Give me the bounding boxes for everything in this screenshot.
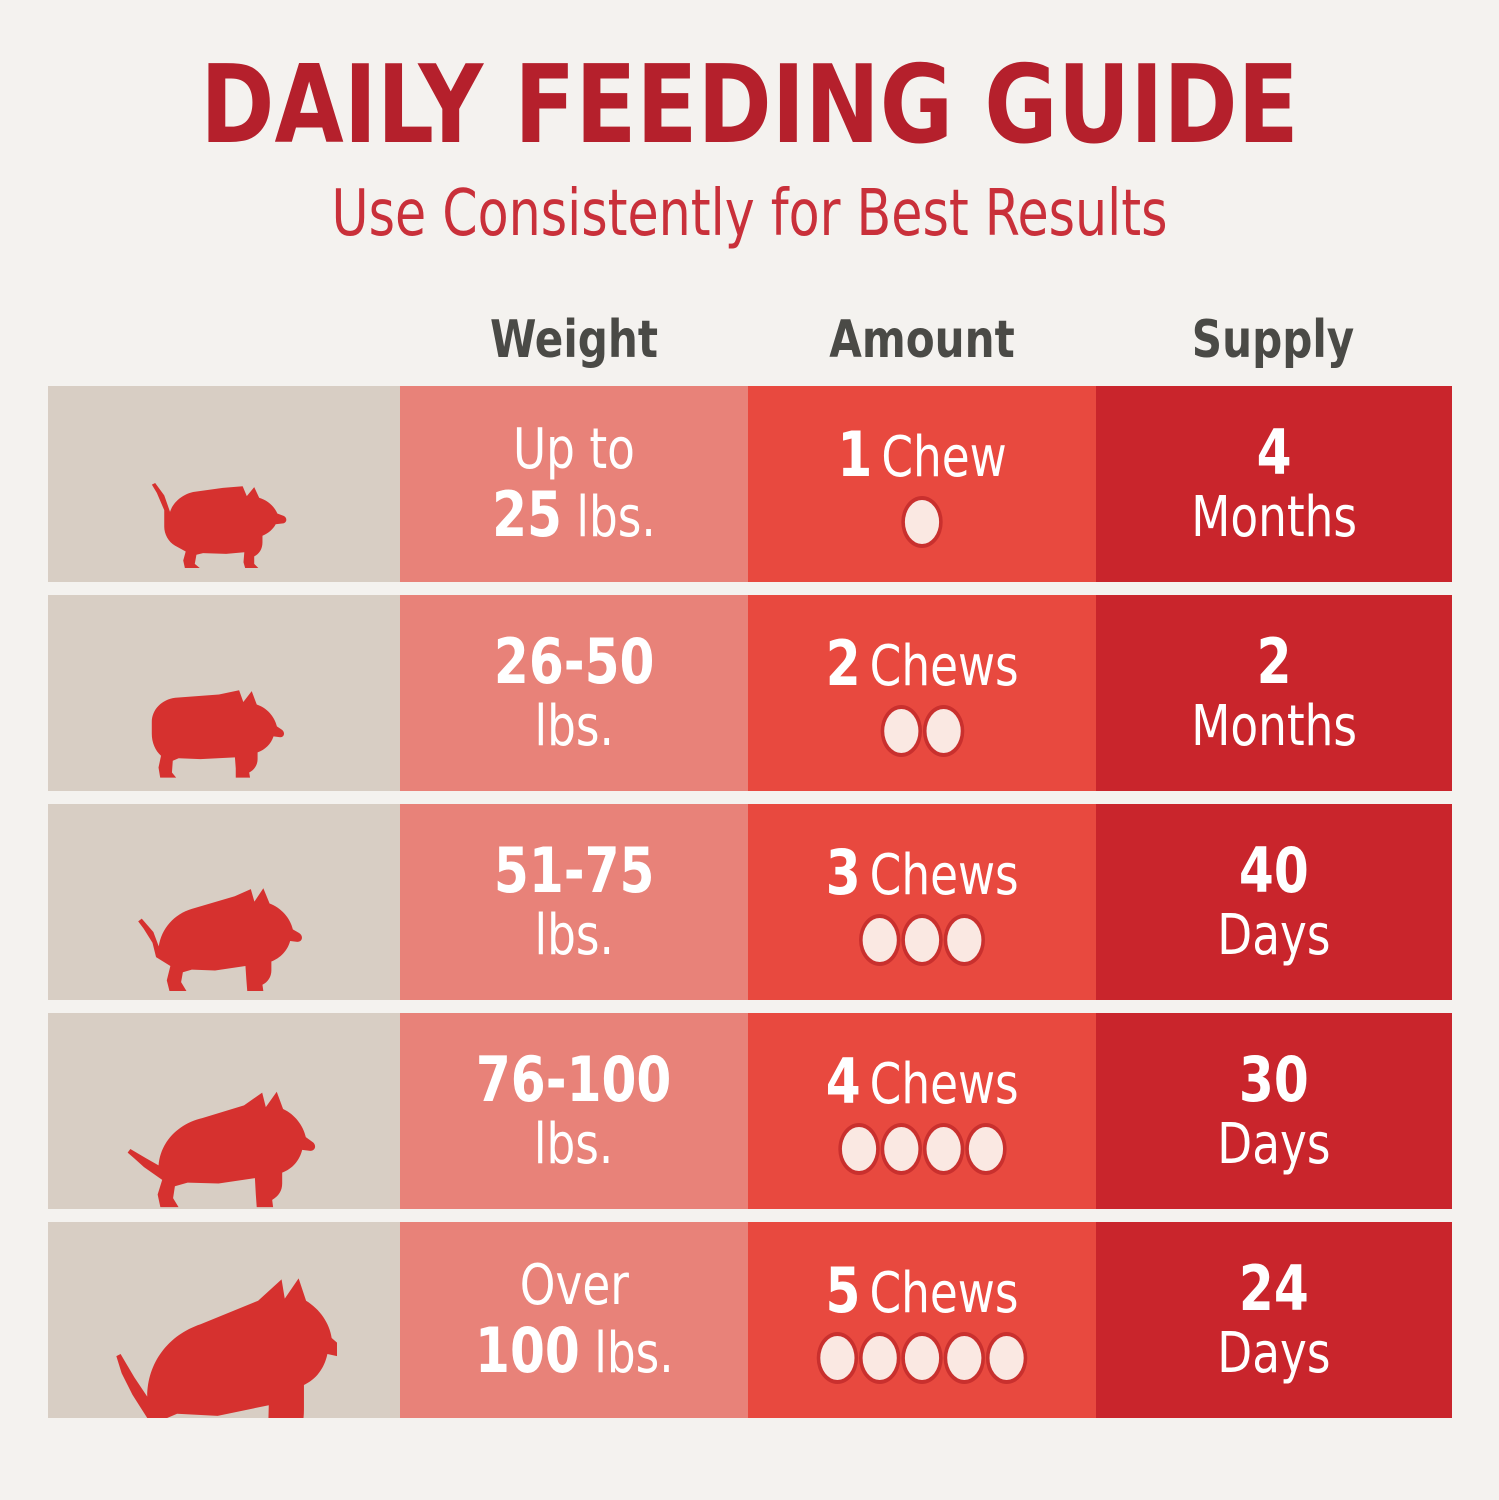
amount-value: 2Chews: [826, 633, 1019, 753]
table-row: Over100 lbs.5Chews24Days: [48, 1222, 1452, 1418]
supply-number: 4: [1191, 422, 1357, 484]
column-header-weight: Weight: [417, 300, 730, 370]
chew-dot-icon: [863, 918, 897, 962]
weight-cell: 26-50lbs.: [400, 595, 748, 791]
feeding-table: Up to25 lbs.1Chew4Months26-50lbs.2Chews2…: [48, 386, 1452, 1431]
dog-size-cell: [48, 595, 400, 791]
weight-cell: 76-100lbs.: [400, 1013, 748, 1209]
supply-number: 2: [1191, 631, 1357, 693]
supply-cell: 4Months: [1096, 386, 1452, 582]
german-shepherd-silhouette-svg: [118, 1089, 330, 1209]
supply-value: 4Months: [1191, 422, 1357, 546]
supply-number: 30: [1217, 1049, 1330, 1111]
weight-cell: Up to25 lbs.: [400, 386, 748, 582]
amount-number: 5: [826, 1254, 861, 1327]
chew-dot-icon: [905, 500, 939, 544]
weight-value: 51-75lbs.: [494, 840, 655, 964]
chihuahua-silhouette: [48, 386, 400, 582]
chew-dot-icon: [905, 918, 939, 962]
boxer-silhouette: [48, 804, 400, 1000]
supply-unit: Days: [1217, 1117, 1330, 1173]
amount-number: 2: [826, 627, 861, 700]
column-header-amount: Amount: [765, 300, 1078, 370]
weight-number: 25: [492, 478, 562, 551]
amount-cell: 5Chews: [748, 1222, 1096, 1418]
weight-cell: Over100 lbs.: [400, 1222, 748, 1418]
chew-dot-icon: [905, 1336, 939, 1380]
amount-number: 1: [837, 418, 872, 491]
amount-cell: 2Chews: [748, 595, 1096, 791]
dog-size-cell: [48, 804, 400, 1000]
supply-cell: 2Months: [1096, 595, 1452, 791]
supply-value: 24Days: [1217, 1258, 1330, 1382]
header: DAILY FEEDING GUIDE Use Consistently for…: [0, 52, 1499, 246]
weight-value: Over100 lbs.: [475, 1258, 674, 1382]
weight-unit: lbs.: [494, 699, 655, 755]
page-subtitle: Use Consistently for Best Results: [90, 182, 1409, 246]
amount-cell: 1Chew: [748, 386, 1096, 582]
chew-dot-icon: [863, 1336, 897, 1380]
weight-number: 26-50: [494, 631, 655, 693]
chew-dots: [837, 500, 1006, 544]
dog-size-cell: [48, 386, 400, 582]
amount-text: 2Chews: [826, 633, 1019, 695]
chew-dot-icon: [841, 1127, 875, 1171]
weight-prefix: Over: [475, 1258, 674, 1314]
chew-dot-icon: [884, 1127, 918, 1171]
amount-value: 4Chews: [826, 1051, 1019, 1171]
great-dane-silhouette-svg: [111, 1238, 337, 1418]
supply-cell: 30Days: [1096, 1013, 1452, 1209]
weight-number-unit: 100 lbs.: [475, 1320, 674, 1382]
amount-word: Chews: [869, 1261, 1018, 1326]
boxer-silhouette-svg: [126, 882, 322, 1000]
amount-cell: 4Chews: [748, 1013, 1096, 1209]
supply-cell: 40Days: [1096, 804, 1452, 1000]
supply-unit: Months: [1191, 699, 1357, 755]
supply-unit: Days: [1217, 1326, 1330, 1382]
amount-cell: 3Chews: [748, 804, 1096, 1000]
weight-number: 76-100: [476, 1049, 671, 1111]
amount-text: 1Chew: [837, 424, 1006, 486]
great-dane-silhouette: [48, 1222, 400, 1418]
weight-unit: lbs.: [494, 908, 655, 964]
amount-text: 3Chews: [826, 842, 1019, 904]
chew-dot-icon: [947, 1336, 981, 1380]
chew-dots: [826, 709, 1019, 753]
amount-word: Chews: [869, 843, 1018, 908]
amount-number: 3: [826, 836, 861, 909]
weight-unit: lbs.: [476, 1117, 671, 1173]
weight-cell: 51-75lbs.: [400, 804, 748, 1000]
amount-value: 1Chew: [837, 424, 1006, 544]
page-title: DAILY FEEDING GUIDE: [60, 52, 1439, 160]
feeding-guide-infographic: DAILY FEEDING GUIDE Use Consistently for…: [0, 0, 1499, 1500]
weight-unit: lbs.: [579, 1321, 673, 1386]
dog-size-cell: [48, 1222, 400, 1418]
weight-number: 51-75: [494, 840, 655, 902]
table-row: 76-100lbs.4Chews30Days: [48, 1013, 1452, 1209]
supply-value: 40Days: [1217, 840, 1330, 964]
amount-word: Chews: [869, 1052, 1018, 1117]
german-shepherd-silhouette: [48, 1013, 400, 1209]
table-row: 51-75lbs.3Chews40Days: [48, 804, 1452, 1000]
column-headers: Weight Amount Supply: [400, 300, 1450, 370]
table-row: 26-50lbs.2Chews2Months: [48, 595, 1452, 791]
amount-text: 4Chews: [826, 1051, 1019, 1113]
amount-word: Chew: [881, 425, 1006, 490]
table-row: Up to25 lbs.1Chew4Months: [48, 386, 1452, 582]
weight-value: 76-100lbs.: [476, 1049, 671, 1173]
chew-dot-icon: [968, 1127, 1002, 1171]
chew-dot-icon: [884, 709, 918, 753]
chew-dots: [826, 1127, 1019, 1171]
chew-dots: [826, 918, 1019, 962]
french-bulldog-silhouette: [48, 595, 400, 791]
weight-number: 100: [475, 1314, 580, 1387]
weight-number-unit: 25 lbs.: [492, 484, 656, 546]
supply-number: 24: [1217, 1258, 1330, 1320]
dog-size-cell: [48, 1013, 400, 1209]
supply-value: 30Days: [1217, 1049, 1330, 1173]
amount-value: 3Chews: [826, 842, 1019, 962]
supply-cell: 24Days: [1096, 1222, 1452, 1418]
weight-unit: lbs.: [562, 485, 656, 550]
supply-unit: Months: [1191, 490, 1357, 546]
supply-number: 40: [1217, 840, 1330, 902]
column-header-supply: Supply: [1114, 300, 1433, 370]
chew-dot-icon: [926, 1127, 960, 1171]
chew-dot-icon: [926, 709, 960, 753]
amount-text: 5Chews: [820, 1260, 1023, 1322]
amount-word: Chews: [869, 634, 1018, 699]
chew-dot-icon: [990, 1336, 1024, 1380]
amount-value: 5Chews: [820, 1260, 1023, 1380]
supply-value: 2Months: [1191, 631, 1357, 755]
chew-dots: [820, 1336, 1023, 1380]
amount-number: 4: [826, 1045, 861, 1118]
supply-unit: Days: [1217, 908, 1330, 964]
chihuahua-silhouette-svg: [137, 470, 312, 582]
weight-value: 26-50lbs.: [494, 631, 655, 755]
chew-dot-icon: [820, 1336, 854, 1380]
weight-value: Up to25 lbs.: [492, 422, 656, 546]
chew-dot-icon: [947, 918, 981, 962]
french-bulldog-silhouette-svg: [135, 679, 313, 791]
weight-prefix: Up to: [492, 422, 656, 478]
